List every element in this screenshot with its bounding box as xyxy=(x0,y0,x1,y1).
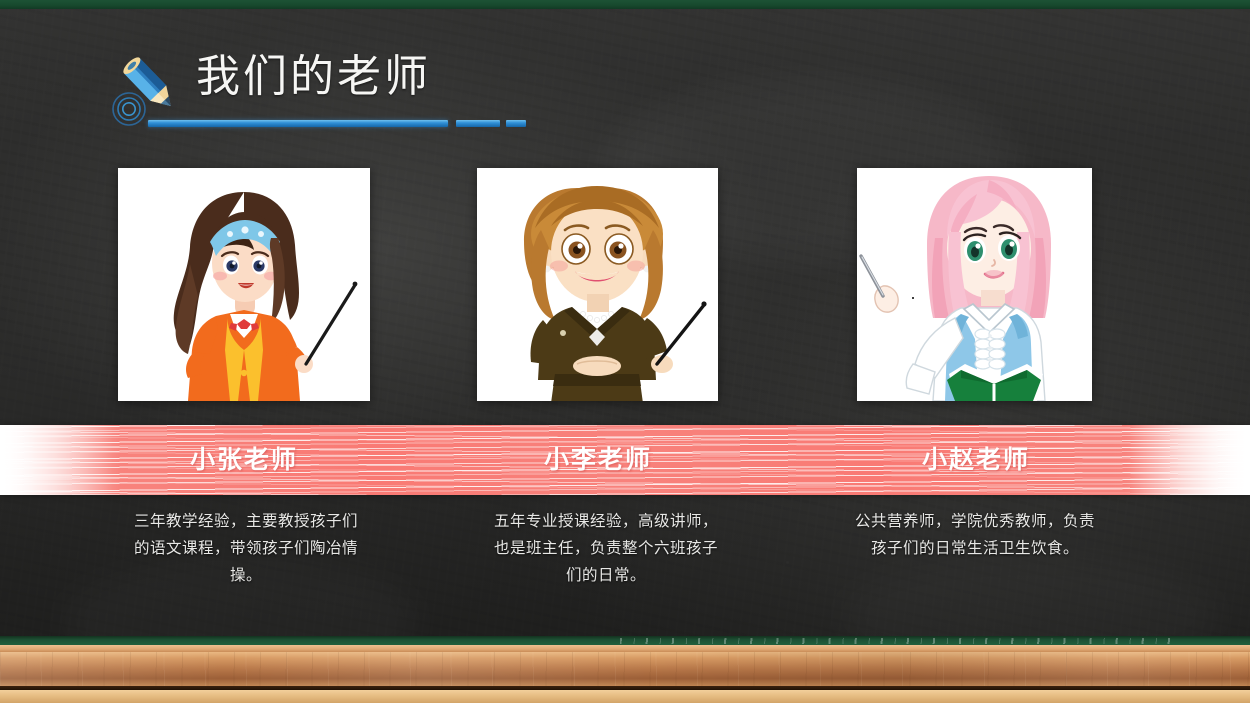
page-title: 我们的老师 xyxy=(196,42,431,112)
teacher-photo-1[interactable] xyxy=(118,168,370,401)
slide-canvas: 我们的老师 xyxy=(0,0,1250,703)
teacher-photo-row xyxy=(0,168,1250,401)
teacher-photo-2[interactable] xyxy=(477,168,718,401)
chalk-ledge xyxy=(0,636,1250,703)
ledge-wood-body xyxy=(0,652,1250,686)
teacher-description-3: 公共营养师，学院优秀教师，负责孩子们的日常生活卫生饮食。 xyxy=(850,508,1100,562)
teacher-name-banner: 小张老师 小李老师 小赵老师 xyxy=(0,425,1250,495)
teacher-name-1: 小张老师 xyxy=(122,425,366,495)
title-underline-segment xyxy=(148,120,448,127)
board-top-frame xyxy=(0,0,1250,9)
page-title-block: 我们的老师 xyxy=(112,48,532,130)
ledge-base-strip xyxy=(0,690,1250,703)
teacher-description-row: 三年教学经验，主要教授孩子们的语文课程，带领孩子们陶冶情操。 五年专业授课经验，… xyxy=(0,508,1250,618)
teacher-photo-3[interactable] xyxy=(857,168,1092,401)
banner-fade-right xyxy=(1130,425,1250,495)
teacher-name-2: 小李老师 xyxy=(478,425,718,495)
title-underline-dash xyxy=(456,120,500,127)
pencil-icon xyxy=(112,52,190,128)
title-underline-dash xyxy=(506,120,526,127)
ledge-top-lip xyxy=(0,645,1250,652)
teacher-description-1: 三年教学经验，主要教授孩子们的语文课程，带领孩子们陶冶情操。 xyxy=(132,508,360,589)
chalk-writing-marks xyxy=(620,638,1180,644)
banner-fade-left xyxy=(0,425,120,495)
teacher-name-3: 小赵老师 xyxy=(858,425,1094,495)
title-underline xyxy=(148,120,526,128)
teacher-description-2: 五年专业授课经验，高级讲师，也是班主任，负责整个六班孩子们的日常。 xyxy=(492,508,720,589)
